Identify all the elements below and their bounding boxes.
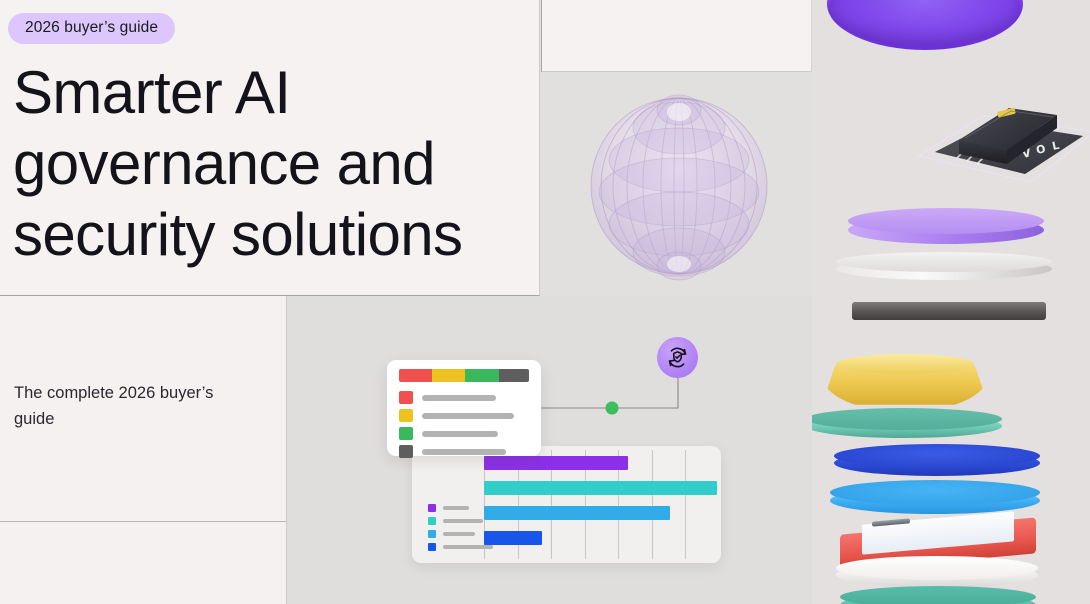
chart-legend-swatch (428, 543, 436, 551)
left-column-panel: The complete 2026 buyer’s guide (0, 296, 287, 604)
legend-placeholder-bar (422, 395, 496, 401)
legend-swatch (399, 445, 413, 458)
legend-swatch (399, 427, 413, 440)
vol-device: V O L (905, 82, 1090, 202)
legend-placeholder-bar (422, 431, 498, 437)
chart-bar (484, 456, 628, 470)
legend-swatch (399, 409, 413, 422)
legend-placeholder-bar (422, 413, 514, 419)
gray-segment (499, 369, 529, 382)
legend-row (399, 427, 529, 440)
shield-check-refresh-icon[interactable] (657, 337, 698, 378)
chart-legend-swatch (428, 504, 436, 512)
status-legend-card (387, 360, 541, 456)
chart-bar (484, 506, 670, 520)
chart-bar (484, 531, 542, 545)
chart-bar (484, 481, 717, 495)
cone-cap (836, 354, 974, 374)
connector-node (606, 402, 619, 415)
disc-top (836, 252, 1052, 272)
legend-swatch (399, 391, 413, 404)
disc-top (834, 444, 1040, 468)
top-center-panel (541, 0, 812, 72)
green-segment (465, 369, 499, 382)
legend-row (399, 445, 529, 458)
teal-disc-lower (840, 586, 1036, 604)
dark-slab-disc (852, 298, 1046, 324)
red-segment (399, 369, 432, 382)
chart-legend-swatch (428, 530, 436, 538)
yellow-segment (432, 369, 466, 382)
hero-panel: 2026 buyer’s guide Smarter AI governance… (0, 0, 540, 296)
disc-body (852, 302, 1046, 320)
blue-disc-dark (834, 444, 1040, 480)
silver-disc (836, 252, 1052, 284)
chart-legend-placeholder (443, 506, 469, 510)
hero-stage: V O L (0, 0, 1090, 604)
teal-disc-upper (806, 408, 1002, 442)
disc-top (840, 586, 1036, 604)
disc-top (848, 208, 1044, 234)
legend-row (399, 409, 529, 422)
lavender-wireframe-sphere (588, 88, 770, 284)
yellow-cone (822, 360, 988, 412)
lavender-disc (848, 208, 1044, 248)
legend-placeholder-bar (422, 449, 506, 455)
segmented-status-bar (399, 369, 529, 382)
bar-chart-card (412, 446, 721, 563)
subtitle-text: The complete 2026 buyer’s guide (14, 380, 249, 432)
left-column-divider (0, 521, 287, 522)
badge-2026-buyers-guide: 2026 buyer’s guide (8, 13, 175, 44)
chart-legend-swatch (428, 517, 436, 525)
chart-legend-placeholder (443, 532, 475, 536)
disc-ring-inner (869, 0, 981, 20)
legend-row (399, 391, 529, 404)
chart-bars (484, 456, 717, 555)
chart-legend-placeholder (443, 519, 483, 523)
page-title: Smarter AI governance and security solut… (13, 58, 533, 270)
disc-top (836, 556, 1038, 580)
legend-rows (399, 391, 529, 458)
disc-ring (853, 0, 997, 26)
disc-top (806, 408, 1002, 430)
disc-top (830, 480, 1040, 505)
